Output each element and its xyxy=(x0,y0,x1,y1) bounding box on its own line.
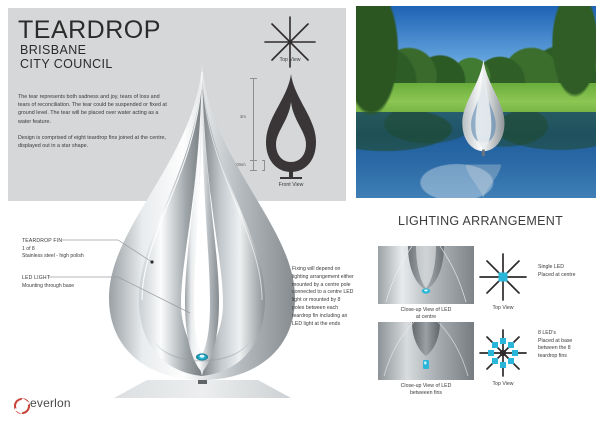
closeup-between-fins-caption: Close-up View of LED betweeen fins xyxy=(378,383,474,398)
lighting-desc-row-2-line-4: teardrop fins xyxy=(538,353,572,361)
closeup-led-at-centre xyxy=(378,246,474,304)
lighting-desc-row-1-line-1: Single LED xyxy=(538,264,576,272)
closeup-centre-caption-line-1: Close-up View of LED xyxy=(378,307,474,314)
callout-led-title: LED LIGHT xyxy=(22,275,118,283)
lighting-arrangement-title: LIGHTING ARRANGEMENT xyxy=(398,214,563,228)
lighting-desc-row-2-line-3: between the 8 xyxy=(538,345,572,353)
callout-led-light: LED LIGHT Mounting through base xyxy=(22,275,118,290)
closeup-between-fins-caption-line-1: Close-up View of LED xyxy=(378,383,474,390)
presentation-board: TEARDROP BRISBANE CITY COUNCIL The tear … xyxy=(0,0,600,424)
lighting-desc-row-2-line-1: 8 LED's xyxy=(538,330,572,338)
lighting-desc-row-2-line-2: Placed at base xyxy=(538,338,572,346)
photo-tree-left xyxy=(356,6,409,140)
top-view-caption-row-1: Top View xyxy=(476,305,530,312)
callout-fin-title: TEARDROP FIN xyxy=(22,238,118,246)
callout-fin-line-3: Stainless steel - high polish xyxy=(22,253,118,261)
lighting-desc-row-2: 8 LED's Placed at base between the 8 tea… xyxy=(538,330,572,360)
callout-teardrop-fin: TEARDROP FIN 1 of 8 Stainless steel - hi… xyxy=(22,238,118,261)
site-photomontage xyxy=(356,6,596,198)
photo-sculpture xyxy=(457,58,510,158)
closeup-between-fins-caption-line-2: betweeen fins xyxy=(378,390,474,397)
closeup-centre-caption: Close-up View of LED at centre xyxy=(378,307,474,322)
callout-fin-line-2: 1 of 8 xyxy=(22,246,118,254)
everlon-logo-text: everlon xyxy=(30,396,71,410)
led-marker-centre xyxy=(499,273,508,282)
lighting-desc-row-1: Single LED Placed at centre xyxy=(538,264,576,279)
lighting-desc-row-1-line-2: Placed at centre xyxy=(538,272,576,280)
top-view-star-single-led xyxy=(476,250,530,304)
lighting-fixing-note: Fixing will depend on lighting arrangeme… xyxy=(292,266,354,328)
photo-sculpture-reflection xyxy=(457,156,510,198)
closeup-centre-caption-line-2: at centre xyxy=(378,314,474,321)
page-title: TEARDROP xyxy=(18,16,161,45)
top-view-star-eight-leds xyxy=(476,326,530,380)
callout-led-line-2: Mounting through base xyxy=(22,283,118,291)
closeup-led-between-fins xyxy=(378,322,474,380)
photo-tree-right xyxy=(543,6,596,117)
top-view-caption-row-2: Top View xyxy=(476,381,530,388)
